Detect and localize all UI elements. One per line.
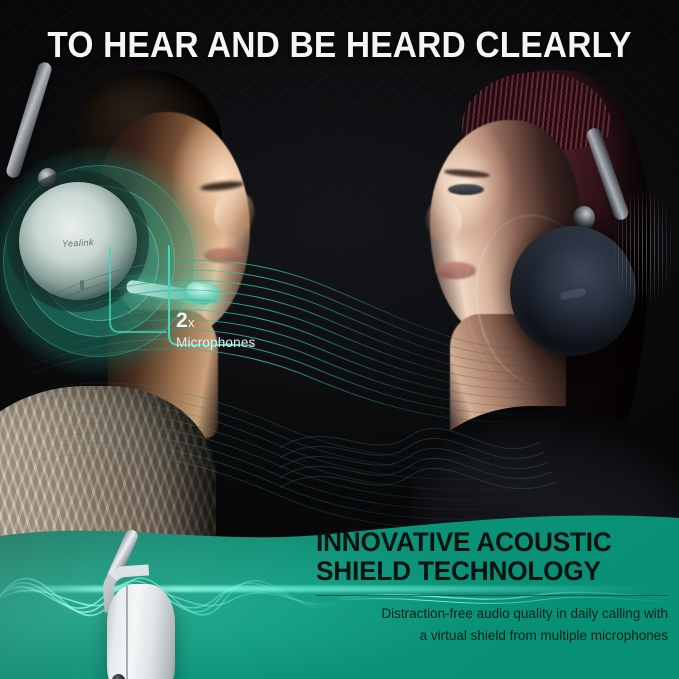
woman-nose bbox=[426, 200, 462, 242]
panel-body-line1: Distraction-free audio quality in daily … bbox=[316, 603, 668, 625]
sound-bars-graphic bbox=[606, 172, 679, 322]
panel-copy-block: INNOVATIVE ACOUSTIC SHIELD TECHNOLOGY Di… bbox=[316, 528, 668, 647]
microphone-callout-label: 2x Microphones bbox=[176, 310, 256, 350]
hero-scene: Yealink bbox=[0, 0, 679, 560]
woman-eye bbox=[448, 184, 484, 195]
microphone-caption: Microphones bbox=[176, 335, 256, 350]
microphone-count: 2x bbox=[176, 310, 256, 331]
left-headset-earcup: Yealink bbox=[19, 182, 137, 300]
woman-with-headset-photo bbox=[392, 66, 679, 536]
earcup-brand-label: Yealink bbox=[62, 238, 94, 250]
man-with-headset-photo: Yealink bbox=[0, 64, 316, 534]
panel-divider bbox=[316, 595, 668, 596]
man-nose bbox=[214, 192, 254, 236]
page-title: TO HEAR AND BE HEARD CLEARLY bbox=[24, 24, 655, 66]
teal-panel-content: INNOVATIVE ACOUSTIC SHIELD TECHNOLOGY Di… bbox=[0, 516, 679, 679]
earcup-button bbox=[80, 280, 84, 290]
panel-heading-line1: INNOVATIVE ACOUSTIC bbox=[316, 528, 657, 557]
man-lips bbox=[204, 248, 244, 263]
microphone-count-suffix: x bbox=[188, 315, 195, 330]
panel-heading-line2: SHIELD TECHNOLOGY bbox=[316, 557, 657, 586]
left-headset-headband bbox=[5, 61, 53, 180]
marketing-poster: Yealink bbox=[0, 0, 679, 679]
panel-body-line2: a virtual shield from multiple microphon… bbox=[316, 625, 668, 647]
microphone-count-value: 2 bbox=[176, 309, 188, 332]
